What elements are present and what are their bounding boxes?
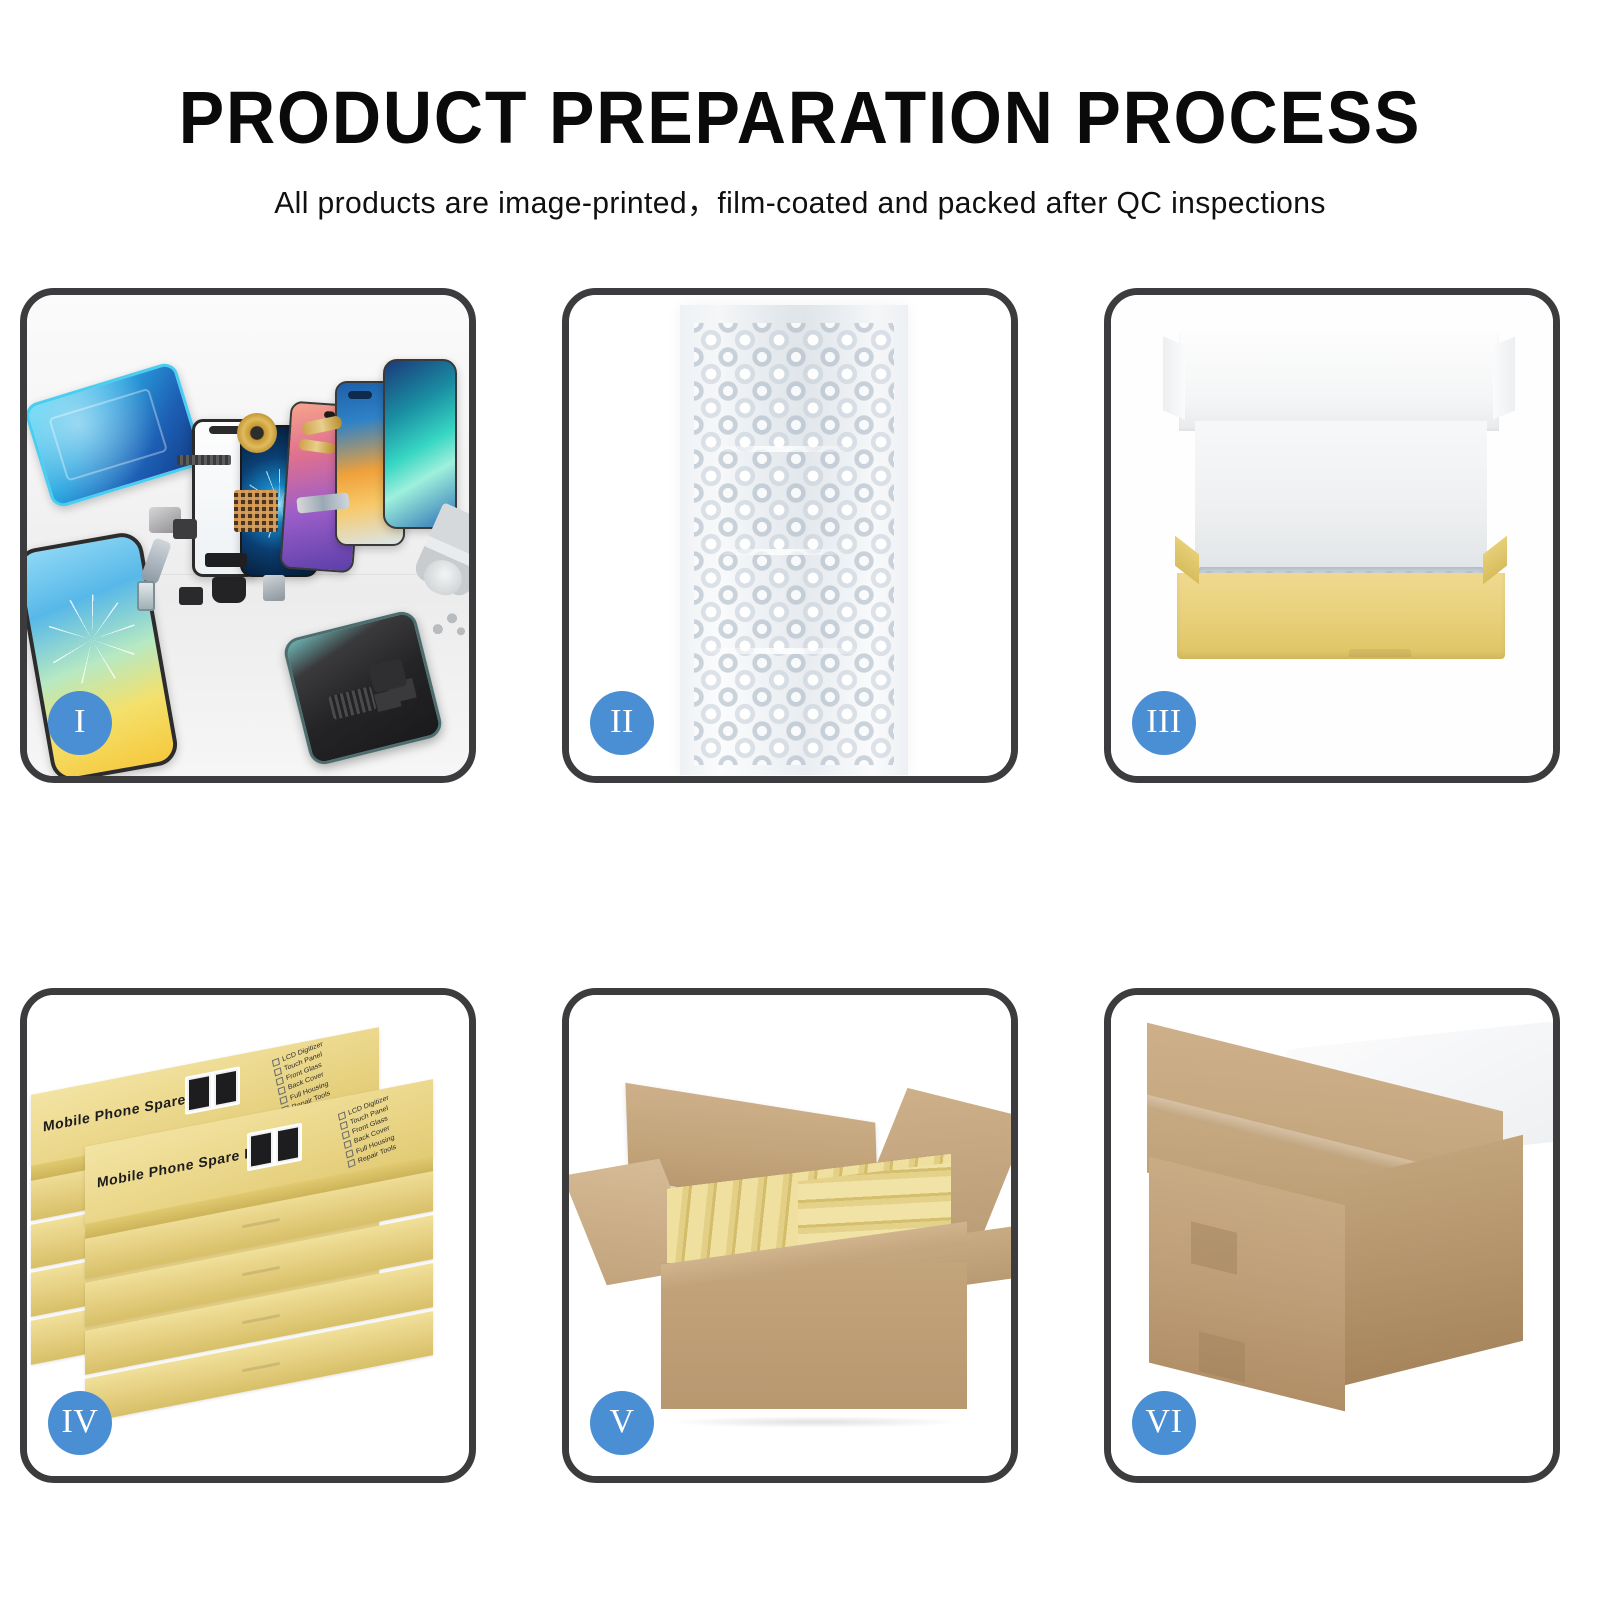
box-photo-screen-a bbox=[249, 1130, 273, 1169]
carton-shadow bbox=[665, 1416, 965, 1428]
button-bracket-part bbox=[263, 575, 285, 601]
box-photo-screen-b bbox=[276, 1125, 300, 1164]
step-badge-3: III bbox=[1132, 691, 1196, 755]
step-numeral-6: VI bbox=[1146, 1405, 1183, 1439]
mailer-box-interior bbox=[1195, 421, 1487, 569]
step-badge-5: V bbox=[590, 1391, 654, 1455]
wireless-charging-coil-part bbox=[237, 413, 277, 453]
step-numeral-5: V bbox=[609, 1405, 634, 1439]
carton-body bbox=[661, 1263, 967, 1409]
page-subtitle: All products are image-printed，film-coat… bbox=[24, 177, 1576, 222]
box-product-photo-2 bbox=[247, 1123, 302, 1172]
step-numeral-4: IV bbox=[62, 1405, 99, 1439]
bubble-highlight-2 bbox=[710, 549, 851, 555]
bubble-highlight-1 bbox=[700, 446, 860, 452]
bubble-wrap-sheet bbox=[680, 305, 908, 775]
step-panel-6: VI bbox=[1104, 988, 1560, 1483]
step-numeral-3: III bbox=[1146, 705, 1181, 739]
box-product-photo-1 bbox=[185, 1066, 240, 1115]
antenna-bar-part bbox=[205, 553, 247, 567]
connector-strip-part bbox=[177, 455, 231, 465]
vibrator-part bbox=[179, 587, 203, 605]
box-photo-screen-b bbox=[214, 1069, 238, 1108]
step-badge-4: IV bbox=[48, 1391, 112, 1455]
logic-chip-part bbox=[234, 490, 278, 532]
screws-part bbox=[431, 611, 465, 637]
product-preparation-infographic: PRODUCT PREPARATION PROCESS All products… bbox=[0, 0, 1600, 1600]
step-numeral-1: I bbox=[74, 705, 86, 739]
step-panel-4: Mobile Phone Spare Parts LCD Digitizer T… bbox=[20, 988, 476, 1483]
speaker-module-part bbox=[212, 577, 246, 603]
mailer-box-tab bbox=[1349, 649, 1411, 657]
camera-lens-part bbox=[173, 519, 197, 539]
step-badge-1: I bbox=[48, 691, 112, 755]
sim-tray-part bbox=[137, 581, 155, 611]
bubble-highlight-3 bbox=[696, 648, 869, 654]
mailer-box-lid bbox=[1179, 331, 1499, 431]
step-panel-5: V bbox=[562, 988, 1018, 1483]
process-step-grid: I II bbox=[20, 288, 1560, 1453]
box-checklist-2: LCD Digitizer Touch Panel Front Glass Ba… bbox=[338, 1094, 400, 1171]
bubble-pattern-layer-2 bbox=[694, 323, 894, 765]
step-badge-2: II bbox=[590, 691, 654, 755]
step-panel-3: III bbox=[1104, 288, 1560, 783]
step-panel-2: II bbox=[562, 288, 1018, 783]
page-title: PRODUCT PREPARATION PROCESS bbox=[64, 80, 1536, 155]
step-numeral-2: II bbox=[610, 705, 634, 739]
header: PRODUCT PREPARATION PROCESS All products… bbox=[0, 0, 1600, 222]
mailer-box-front-wall bbox=[1177, 573, 1505, 659]
step-panel-1: I bbox=[20, 288, 476, 783]
step-badge-6: VI bbox=[1132, 1391, 1196, 1455]
box-photo-screen-a bbox=[187, 1074, 211, 1113]
